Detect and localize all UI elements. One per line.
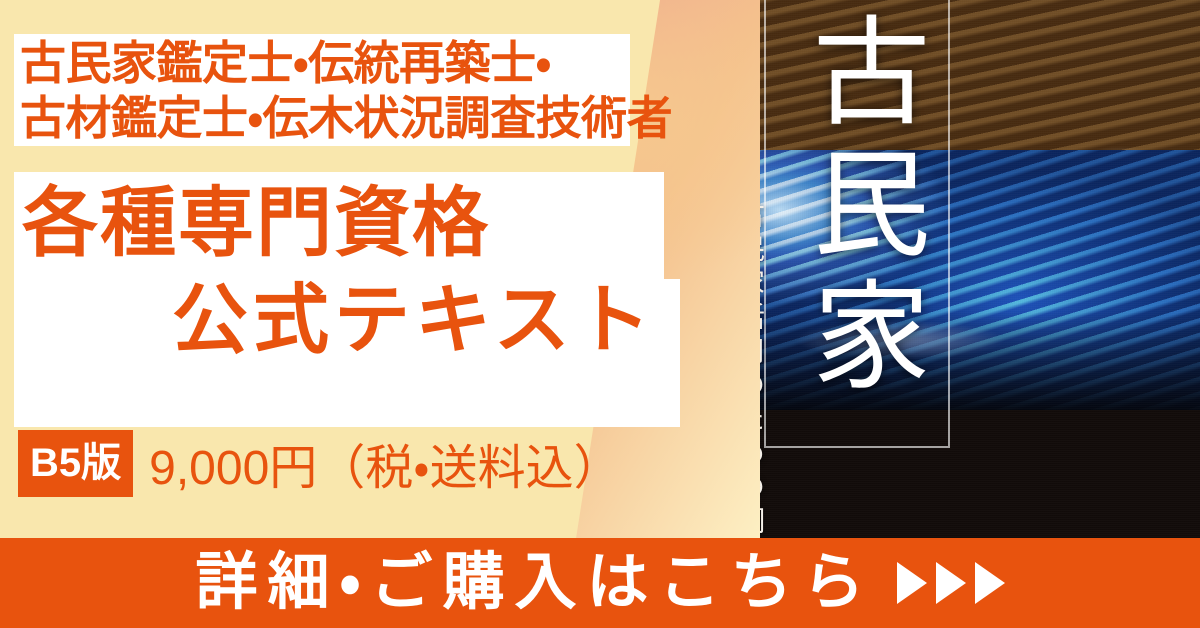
size-badge: B5版	[18, 430, 133, 497]
play-arrow-icon	[975, 562, 1005, 604]
headline-line-1: 古民家鑑定士・伝統再築士・	[20, 36, 720, 91]
price-row: B5版 9,000円（税・送料込）	[18, 428, 622, 498]
cta-label[interactable]: 詳細・ご購入はこちら	[195, 552, 874, 614]
cta-arrow-group	[897, 562, 1005, 604]
main-title: 各種専門資格 公式テキスト	[22, 176, 702, 369]
play-arrow-icon	[897, 562, 927, 604]
price-amount: 9,000円（税・送料込）	[149, 428, 621, 498]
qualification-headline: 古民家鑑定士・伝統再築士・ 古材鑑定士・伝木状況調査技術者	[20, 36, 720, 146]
headline-line-2: 古材鑑定士・伝木状況調査技術者	[20, 91, 720, 146]
cta-bar[interactable]: 詳細・ご購入はこちら	[0, 538, 1200, 628]
book-cover-title: 古民家	[800, 10, 918, 406]
promo-banner: 古民家 伝統構法 古民家活用のための調査と再生の 古民家鑑定士・伝統再築士・ 古…	[0, 0, 1200, 628]
play-arrow-icon	[936, 562, 966, 604]
main-title-line-1: 各種専門資格	[22, 176, 702, 273]
main-title-line-2: 公式テキスト	[22, 273, 702, 370]
